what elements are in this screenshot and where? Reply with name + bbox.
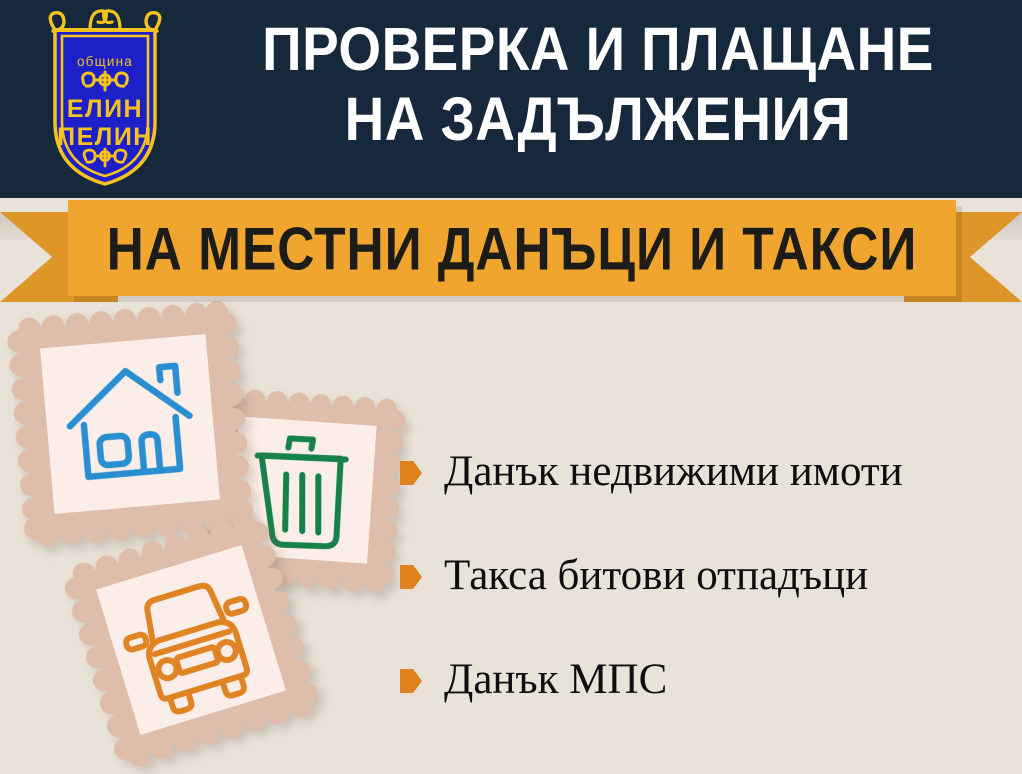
svg-text:община: община bbox=[77, 54, 133, 69]
header-title-group: ПРОВЕРКА И ПЛАЩАНЕ НА ЗАДЪЛЖЕНИЯ bbox=[188, 14, 1008, 154]
municipality-logo: община ЕЛИН ПЕЛИН bbox=[30, 4, 180, 189]
list-item-label: Такса битови отпадъци bbox=[444, 552, 868, 599]
arrow-bullet-icon bbox=[400, 669, 422, 693]
ribbon-label: НА МЕСТНИ ДАНЪЦИ И ТАКСИ bbox=[104, 196, 921, 300]
arrow-bullet-icon bbox=[400, 461, 422, 485]
arrow-bullet-icon bbox=[400, 565, 422, 589]
stamp-house bbox=[4, 298, 255, 549]
list-item[interactable]: Данък недвижими имоти bbox=[400, 420, 1012, 524]
list-item-label: Данък недвижими имоти bbox=[444, 448, 903, 495]
header-banner: община ЕЛИН ПЕЛИН ПРОВЕРКА bbox=[0, 0, 1022, 198]
ribbon-band: НА МЕСТНИ ДАНЪЦИ И ТАКСИ bbox=[68, 200, 956, 296]
svg-text:ЕЛИН: ЕЛИН bbox=[67, 95, 143, 123]
list-item[interactable]: Данък МПС bbox=[400, 628, 1012, 732]
page-title-line-2: НА ЗАДЪЛЖЕНИЯ bbox=[229, 84, 967, 154]
list-item[interactable]: Такса битови отпадъци bbox=[400, 524, 1012, 628]
svg-text:ПЕЛИН: ПЕЛИН bbox=[57, 123, 153, 151]
ribbon-banner: НА МЕСТНИ ДАНЪЦИ И ТАКСИ bbox=[0, 196, 1022, 306]
list-item-label: Данък МПС bbox=[444, 656, 667, 703]
page-title-line-1: ПРОВЕРКА И ПЛАЩАНЕ bbox=[229, 14, 967, 84]
tax-type-list: Данък недвижими имоти Такса битови отпад… bbox=[400, 420, 1012, 732]
